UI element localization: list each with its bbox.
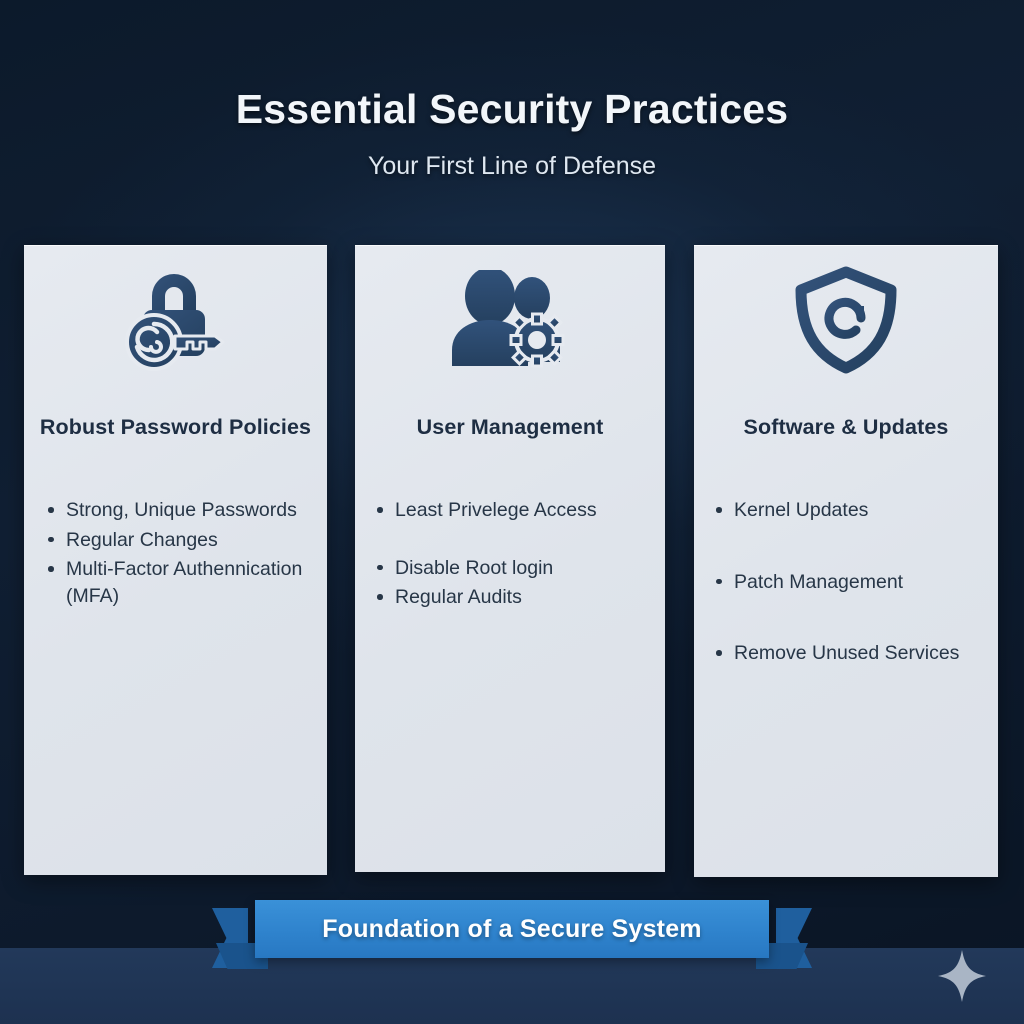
page-title: Essential Security Practices — [0, 88, 1024, 131]
list-item: Disable Root login — [375, 555, 655, 582]
practice-card-software-updates: Software & Updates Kernel Updates Patch … — [694, 245, 998, 877]
card-bullet-list: Kernel Updates Patch Management Remove U… — [694, 497, 998, 712]
list-item: Least Privelege Access — [375, 497, 655, 524]
practice-card-user-management: User Management Least Privelege Access D… — [355, 245, 665, 872]
card-bullet-list: Least Privelege Access Disable Root logi… — [355, 497, 665, 642]
practice-card-password-policies: Robust Password Policies Strong, Unique … — [24, 245, 327, 875]
list-item: Patch Management — [714, 569, 994, 596]
padlock-key-icon — [24, 245, 327, 395]
ribbon-label: Foundation of a Secure System — [322, 915, 701, 944]
list-item: Kernel Updates — [714, 497, 994, 524]
infographic-canvas: Essential Security Practices Your First … — [0, 0, 1024, 1024]
list-item: Strong, Unique Passwords — [46, 497, 317, 524]
shield-refresh-icon — [694, 245, 998, 395]
list-item: Regular Changes — [46, 527, 317, 554]
card-title: Software & Updates — [694, 413, 998, 442]
ribbon-banner: Foundation of a Secure System — [0, 896, 1024, 982]
list-item: Multi-Factor Authennication (MFA) — [46, 556, 317, 609]
list-item: Remove Unused Services — [714, 640, 994, 667]
card-bullet-list: Strong, Unique Passwords Regular Changes… — [24, 497, 327, 612]
ribbon-body: Foundation of a Secure System — [255, 900, 769, 958]
header: Essential Security Practices Your First … — [0, 88, 1024, 181]
page-subtitle: Your First Line of Defense — [0, 152, 1024, 181]
list-item: Regular Audits — [375, 584, 655, 611]
card-title: User Management — [355, 413, 665, 442]
users-gear-icon — [355, 245, 665, 395]
card-title: Robust Password Policies — [24, 413, 327, 442]
